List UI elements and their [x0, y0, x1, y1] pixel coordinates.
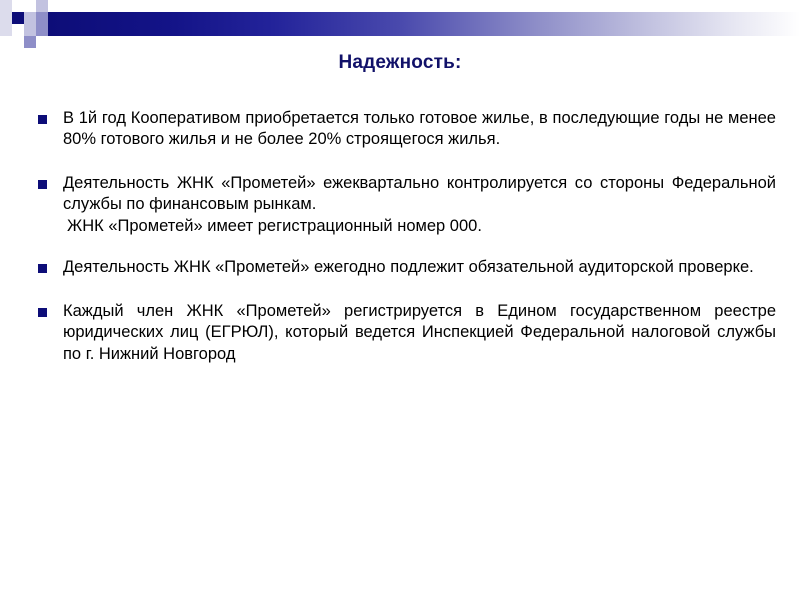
list-item-text: Деятельность ЖНК «Прометей» ежегодно под…	[63, 257, 776, 278]
deco-square	[0, 24, 12, 36]
deco-square	[24, 36, 36, 48]
list-item-subline: ЖНК «Прометей» имеет регистрационный ном…	[63, 216, 776, 237]
deco-square	[0, 36, 12, 48]
square-bullet-icon	[38, 180, 47, 189]
deco-square	[36, 36, 48, 48]
square-bullet-icon	[38, 115, 47, 124]
bullet-list: В 1й год Кооперативом приобретается толь…	[34, 108, 776, 381]
deco-square	[36, 24, 48, 36]
deco-square	[12, 36, 24, 48]
square-bullet-icon	[38, 264, 47, 273]
deco-square	[24, 0, 36, 12]
list-item: Деятельность ЖНК «Прометей» ежеквартальн…	[34, 173, 776, 237]
deco-square	[36, 12, 48, 24]
list-item: В 1й год Кооперативом приобретается толь…	[34, 108, 776, 151]
slide: Надежность: В 1й год Кооперативом приобр…	[0, 0, 800, 600]
list-item-text: Каждый член ЖНК «Прометей» регистрируетс…	[63, 301, 776, 365]
deco-square	[12, 12, 24, 24]
page-title: Надежность:	[0, 52, 800, 74]
list-item-text: Деятельность ЖНК «Прометей» ежеквартальн…	[63, 173, 776, 216]
list-item: Каждый член ЖНК «Прометей» регистрируетс…	[34, 301, 776, 365]
list-item-text: В 1й год Кооперативом приобретается толь…	[63, 108, 776, 151]
deco-square	[12, 0, 24, 12]
deco-square	[0, 12, 12, 24]
square-bullet-icon	[38, 308, 47, 317]
deco-square	[36, 0, 48, 12]
deco-square	[24, 24, 36, 36]
list-item: Деятельность ЖНК «Прометей» ежегодно под…	[34, 257, 776, 278]
header-decoration	[0, 0, 800, 60]
deco-square	[24, 12, 36, 24]
header-gradient-band	[48, 12, 800, 36]
deco-square	[12, 24, 24, 36]
deco-square	[0, 0, 12, 12]
